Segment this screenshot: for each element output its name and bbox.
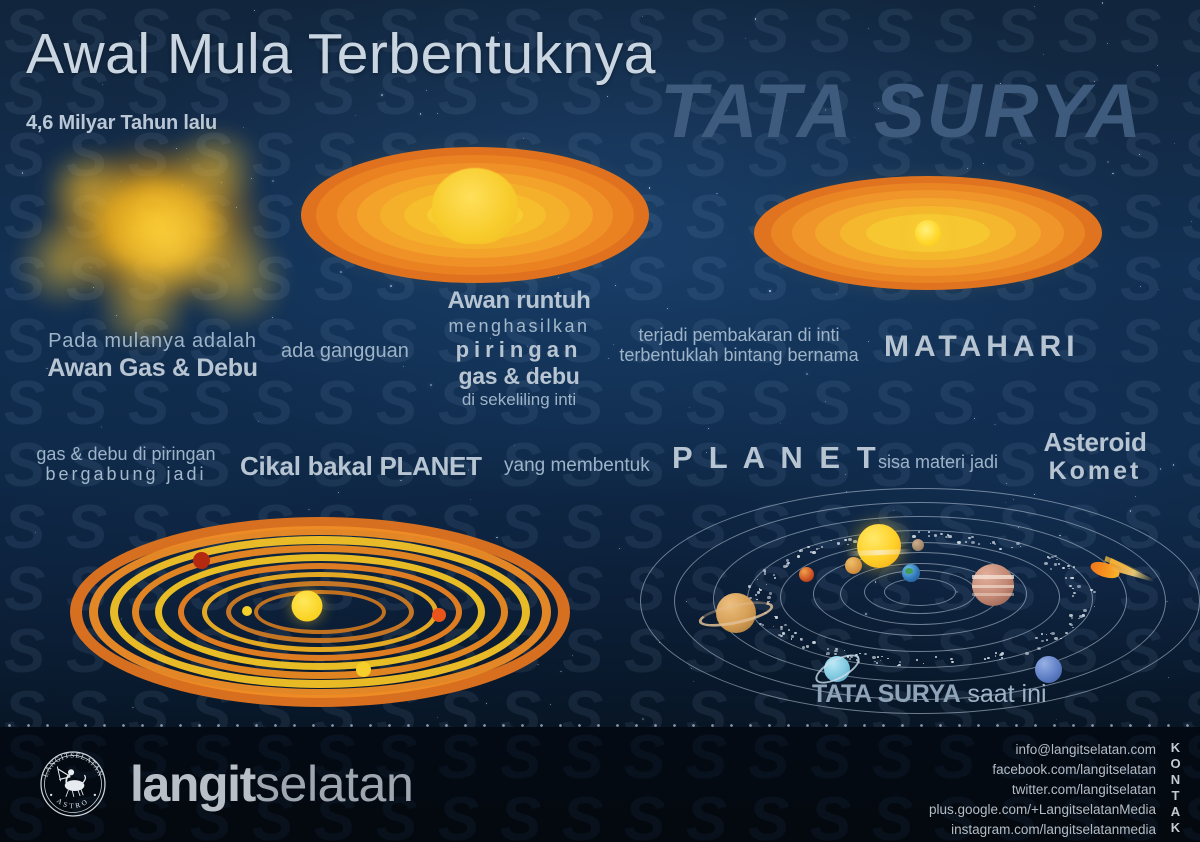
caption-disturbance: ada gangguan [281, 340, 409, 362]
contact-section-label: KONTAK [1168, 740, 1182, 836]
solar-system-label-light: saat ini [960, 680, 1046, 708]
page-subtitle: 4,6 Milyar Tahun lalu [26, 112, 217, 135]
protoplanetary-disk-collapsing [300, 142, 650, 288]
jupiter-band [972, 575, 1014, 579]
proto-planet-orange [432, 608, 446, 622]
brand-wordmark-light: selatan [255, 756, 413, 812]
contact-email[interactable]: info@langitselatan.com [929, 740, 1156, 760]
solar-system-label: TATA SURYA saat ini [812, 680, 1047, 709]
page-title: Awal Mula Terbentuknya [26, 26, 656, 83]
caption-debris: Asteroid Komet [1020, 428, 1170, 485]
protostar-core [432, 168, 518, 244]
newborn-sun [915, 220, 941, 246]
svg-text:ASTRO: ASTRO [55, 797, 91, 810]
proto-planet-inner [242, 606, 252, 616]
contact-instagram[interactable]: instagram.com/langitselatanmedia [929, 820, 1156, 840]
contact-facebook[interactable]: facebook.com/langitselatan [929, 760, 1156, 780]
planet-sun [857, 524, 901, 568]
jupiter-band [972, 593, 1014, 596]
proto-planet-red [193, 552, 210, 569]
contact-twitter[interactable]: twitter.com/langitselatan [929, 780, 1156, 800]
caption-accretion: gas & debu di piringan bergabung jadi [30, 444, 222, 484]
planet-venus [845, 557, 862, 574]
brand-wordmark-bold: langit [130, 756, 255, 812]
brand-logo[interactable]: LANGITSELATAN ASTRO langitselatan [34, 745, 413, 823]
infographic-poster: Awal Mula Terbentuknya 4,6 Milyar Tahun … [0, 0, 1200, 842]
caption-collapse: Awan runtuh menghasilkan piringan gas & … [430, 288, 608, 409]
caption-forming: yang membentuk [504, 455, 650, 476]
solar-system-label-bold: TATA SURYA [812, 680, 960, 708]
jupiter-band [972, 585, 1014, 588]
planet-neptune [1035, 656, 1062, 683]
caption-sun: MATAHARI [884, 330, 1080, 364]
caption-gas-cloud: Pada mulanya adalah Awan Gas & Debu [30, 330, 275, 382]
earth-landmass [905, 568, 913, 574]
forming-planetary-system-illustration [60, 508, 580, 716]
protoplanetary-disk-with-star [752, 172, 1104, 294]
caption-gas-cloud-line1: Pada mulanya adalah [30, 330, 275, 352]
caption-protoplanet: Cikal bakal PLANET [240, 452, 482, 481]
proto-star [292, 590, 323, 621]
comet [1090, 558, 1156, 584]
footer-divider [0, 724, 1200, 727]
contact-list: info@langitselatan.com facebook.com/lang… [929, 740, 1156, 840]
planet-mercury [912, 539, 924, 551]
gas-cloud-illustration [22, 118, 290, 333]
caption-planet: P L A N E T [672, 441, 880, 476]
planet-mars [799, 567, 814, 582]
contact-googleplus[interactable]: plus.google.com/+LangitselatanMedia [929, 800, 1156, 820]
caption-leftover: sisa materi jadi [878, 452, 998, 472]
caption-gas-cloud-line2: Awan Gas & Debu [30, 354, 275, 382]
langitselatan-seal-icon: LANGITSELATAN ASTRO [34, 745, 112, 823]
caption-fusion: terjadi pembakaran di inti terbentuklah … [608, 325, 870, 365]
page-title-highlight: TATA SURYA [660, 68, 1143, 155]
brand-wordmark: langitselatan [130, 759, 413, 809]
